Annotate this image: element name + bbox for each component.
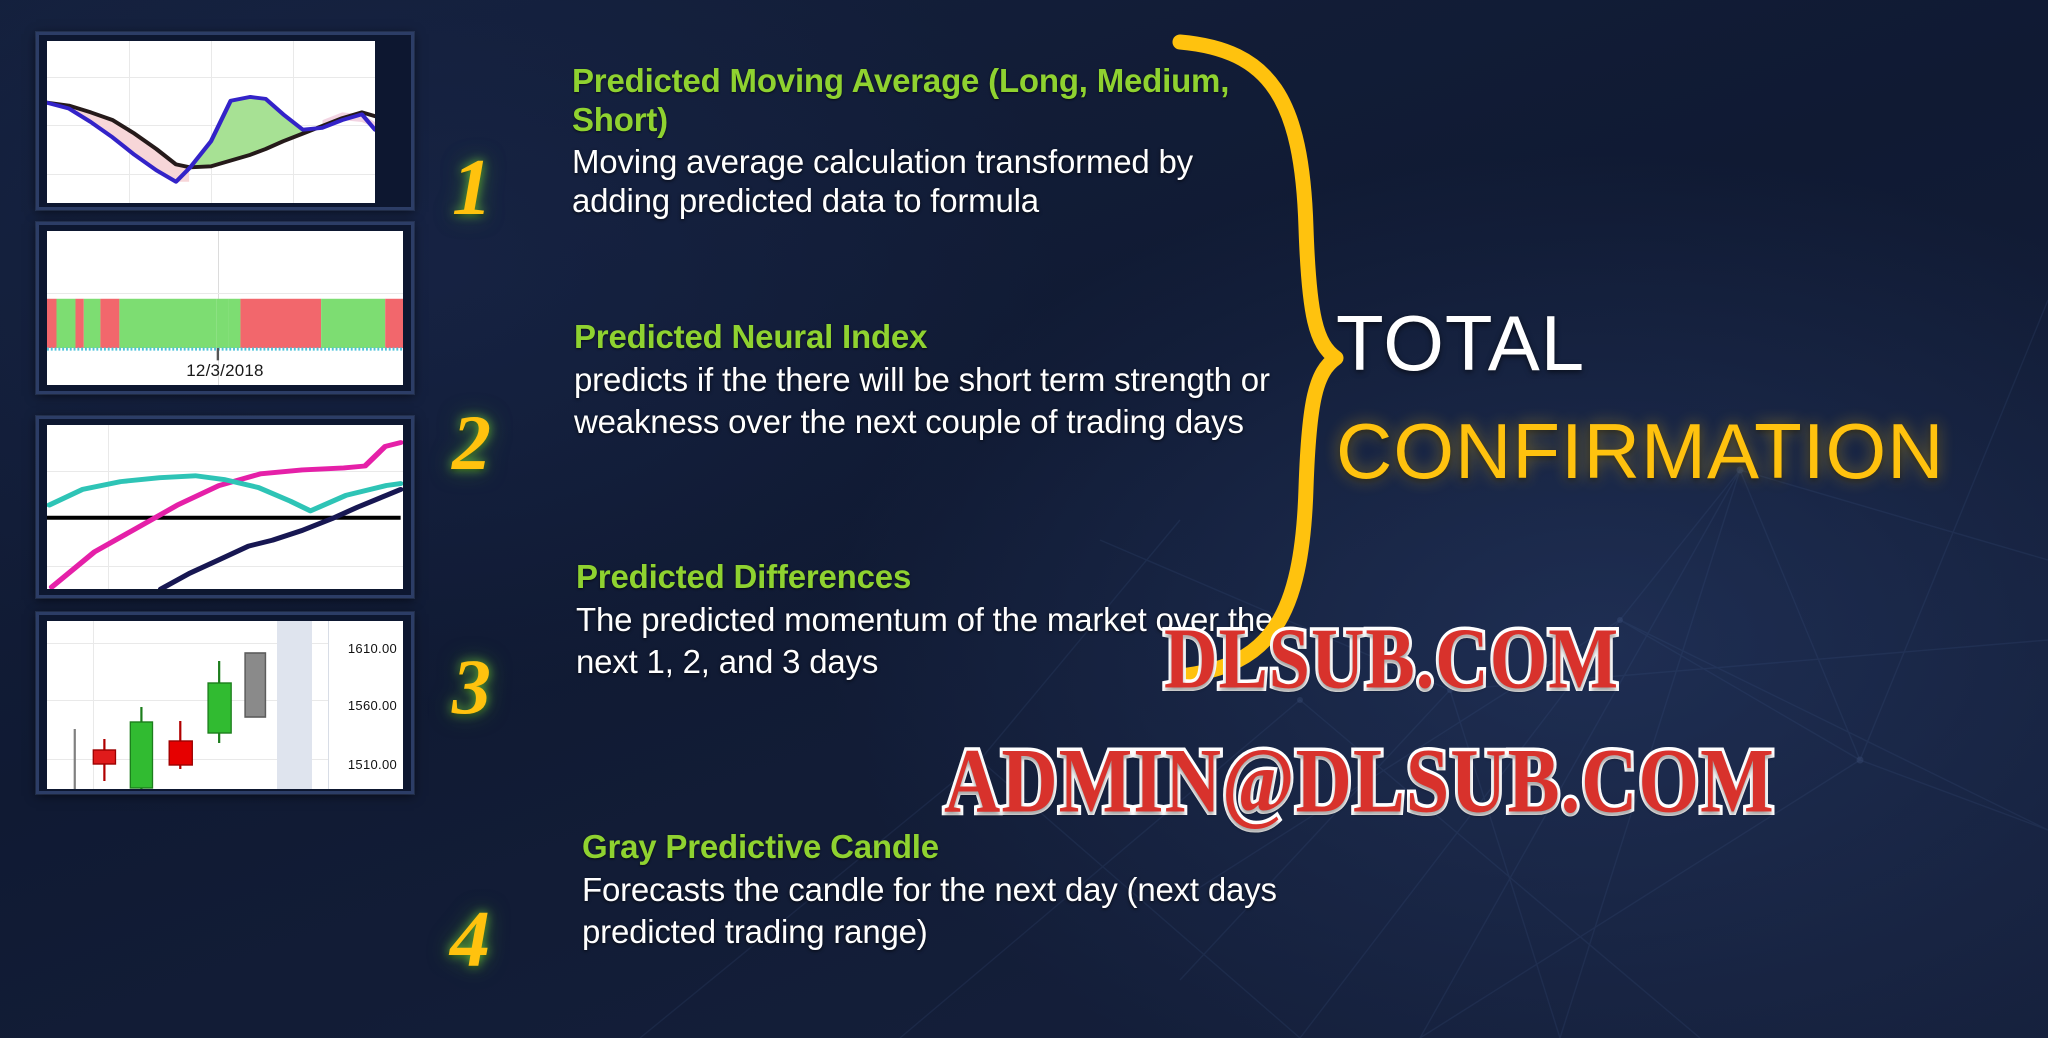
series-diff-1day [52,443,401,587]
infographic-canvas: 12/3/2018 [0,0,2048,1038]
neural-index-bars [47,299,403,348]
plot-area-1 [47,41,375,203]
step-number-2: 2 [452,404,491,482]
feature-heading-1: Predicted Moving Average (Long, Medium, … [572,62,1272,140]
headline-total: TOTAL [1336,304,1585,382]
feature-body-1: Moving average calculation transformed b… [572,142,1272,221]
price-tick-low: 1510.00 [348,757,397,772]
series-diff-2day [49,476,400,511]
candle-1 [93,739,115,781]
feature-heading-4: Gray Predictive Candle [582,828,1282,867]
candle-3 [169,721,192,769]
step-number-4: 4 [450,900,490,980]
feature-block-1: Predicted Moving Average (Long, Medium, … [572,62,1272,221]
headline-confirmation: CONFIRMATION [1336,412,1945,490]
step-number-1: 1 [452,148,492,228]
candle-4 [208,661,231,743]
candle-2 [130,707,152,789]
feature-body-4: Forecasts the candle for the next day (n… [582,869,1282,952]
date-label: 12/3/2018 [47,361,403,381]
feature-block-4: Gray Predictive Candle Forecasts the can… [582,828,1282,952]
chart-panel-predicted-neural-index: 12/3/2018 [36,222,414,394]
plot-area-2: 12/3/2018 [47,231,403,385]
chart-panel-gray-predictive-candle: 1610.00 1560.00 1510.00 [36,612,414,794]
series-diff-3day [161,489,401,589]
feature-heading-3: Predicted Differences [576,558,1276,597]
feature-body-2: predicts if the there will be short term… [574,359,1274,442]
chart-panel-predicted-moving-average [36,32,414,210]
feature-heading-2: Predicted Neural Index [574,318,1274,357]
plot-area-3 [47,425,403,589]
watermark-email: ADMIN@DLSUB.COM [944,735,1775,827]
chart-panel-predicted-differences [36,416,414,598]
series-predicted-moving-average [47,97,375,182]
feature-block-2: Predicted Neural Index predicts if the t… [574,318,1274,442]
step-number-3: 3 [452,648,491,726]
price-tick-high: 1610.00 [348,641,397,656]
price-tick-mid: 1560.00 [348,698,397,713]
watermark-site: DLSUB.COM [1164,615,1619,702]
plot-area-4: 1610.00 1560.00 1510.00 [47,621,403,789]
candle-predicted [245,653,265,717]
